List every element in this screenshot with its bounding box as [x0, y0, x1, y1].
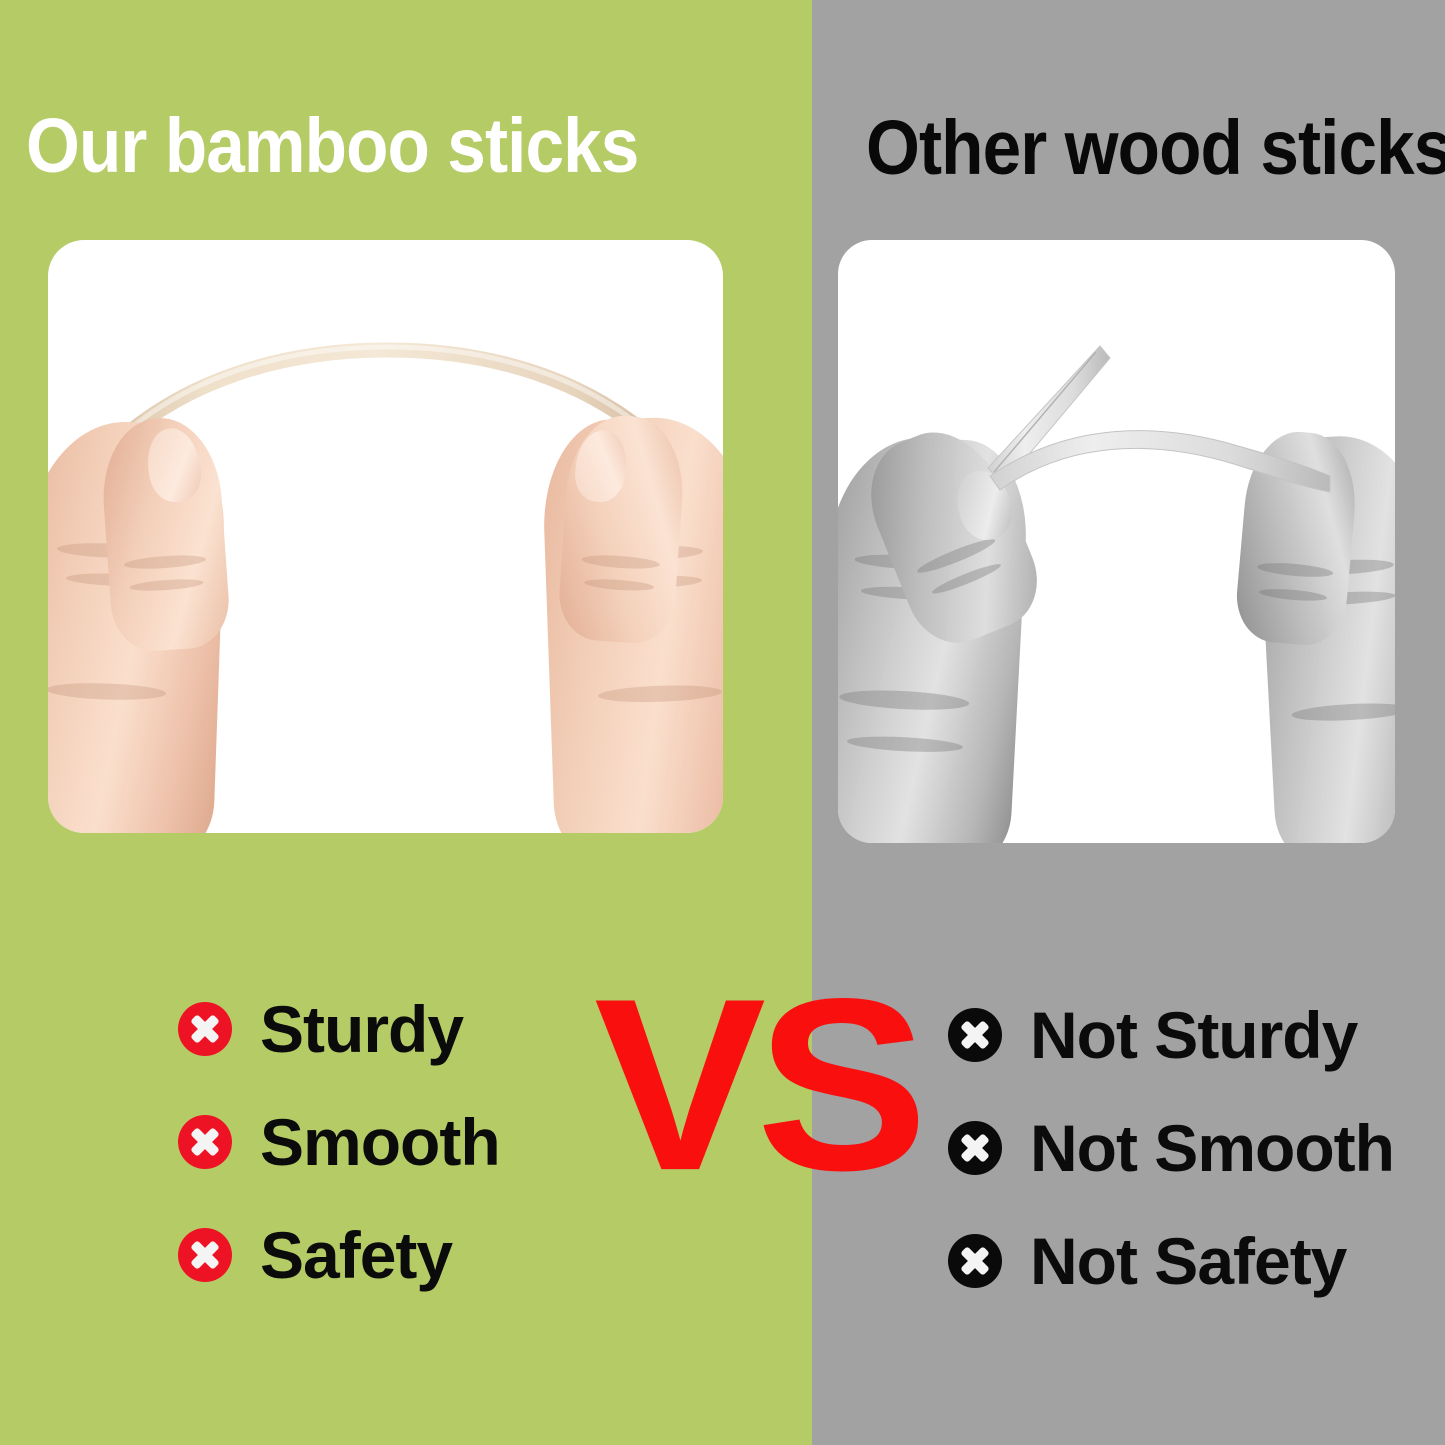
black-circle-x-icon	[948, 1121, 1002, 1175]
red-circle-x-icon	[178, 1002, 232, 1056]
right-feature-list: Not Sturdy Not Smooth Not Safety	[948, 978, 1394, 1317]
black-circle-x-icon	[948, 1234, 1002, 1288]
bamboo-stick-photo	[48, 240, 723, 833]
list-item: Not Sturdy	[948, 978, 1394, 1091]
red-circle-x-icon	[178, 1228, 232, 1282]
wood-stick-photo-card	[838, 240, 1395, 843]
feature-label: Safety	[260, 1222, 452, 1288]
feature-label: Sturdy	[260, 996, 463, 1062]
list-item: Safety	[178, 1198, 500, 1311]
comparison-infographic: Our bamboo sticks Other wood sticks	[0, 0, 1445, 1445]
feature-label: Not Sturdy	[1030, 1002, 1357, 1068]
black-circle-x-icon	[948, 1008, 1002, 1062]
list-item: Sturdy	[178, 972, 500, 1085]
feature-label: Not Safety	[1030, 1228, 1346, 1294]
feature-label: Not Smooth	[1030, 1115, 1394, 1181]
red-circle-x-icon	[178, 1115, 232, 1169]
list-item: Not Smooth	[948, 1091, 1394, 1204]
list-item: Not Safety	[948, 1204, 1394, 1317]
feature-label: Smooth	[260, 1109, 500, 1175]
versus-label: VS	[594, 962, 918, 1207]
wood-stick-photo	[838, 240, 1395, 843]
broken-wood-stick-graphic	[838, 240, 1395, 843]
right-panel-title: Other wood sticks	[866, 110, 1445, 187]
bamboo-stick-photo-card	[48, 240, 723, 833]
left-feature-list: Sturdy Smooth Safety	[178, 972, 500, 1311]
left-panel-title: Our bamboo sticks	[26, 108, 638, 185]
list-item: Smooth	[178, 1085, 500, 1198]
